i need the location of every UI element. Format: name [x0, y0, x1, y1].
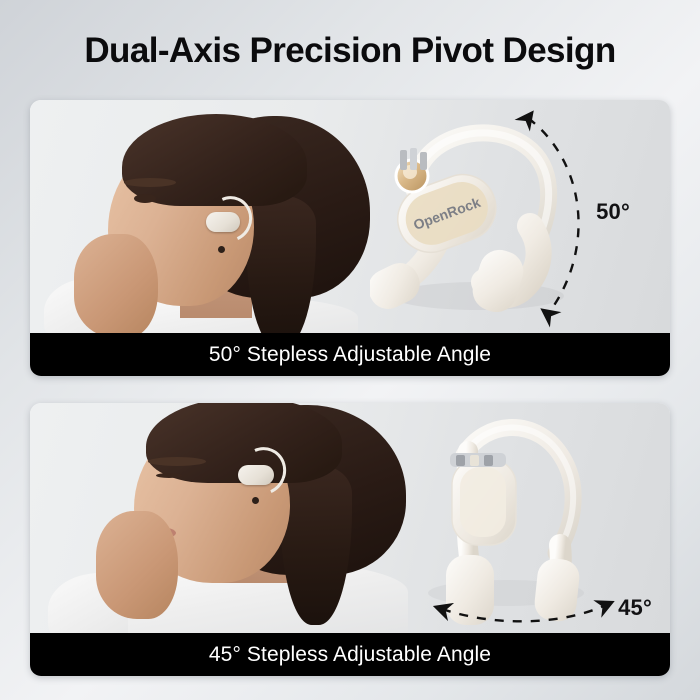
caption-bar-bottom: 45° Stepless Adjustable Angle: [30, 633, 670, 676]
angle-label-bottom: 45°: [618, 595, 652, 621]
product-render-top: OpenRock 50°: [370, 100, 670, 333]
product-render-bottom: 45°: [410, 403, 670, 633]
feature-card-bottom: 45° 45° Stepless Adjustable Angle: [30, 403, 670, 676]
earbud-logo-text-top: OpenRock: [411, 194, 482, 233]
caption-text-top: 50° Stepless Adjustable Angle: [209, 343, 491, 367]
feature-photo-top: OpenRock 50°: [30, 100, 670, 333]
earbud-worn-top: [206, 212, 240, 232]
feature-photo-bottom: 45°: [30, 403, 670, 633]
angle-arc-top: [528, 118, 579, 314]
page-title: Dual-Axis Precision Pivot Design: [0, 31, 700, 71]
angle-label-top: 50°: [596, 199, 630, 225]
earbud-worn-bottom: [238, 465, 274, 485]
angle-arc-bottom: [442, 605, 606, 621]
product-feature-page: Dual-Axis Precision Pivot Design: [0, 0, 700, 700]
feature-card-top: OpenRock 50° 50° Stepless Adjustable Ang…: [30, 100, 670, 376]
caption-text-bottom: 45° Stepless Adjustable Angle: [209, 643, 491, 667]
caption-bar-top: 50° Stepless Adjustable Angle: [30, 333, 670, 376]
